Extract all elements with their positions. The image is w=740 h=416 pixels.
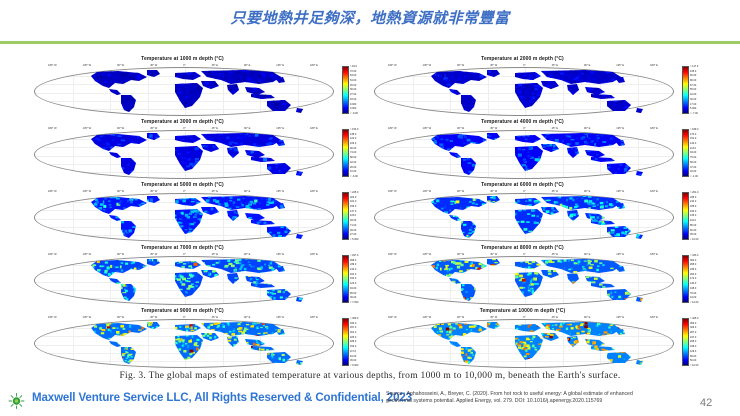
- colorbar-tick-label: 268.0: [690, 263, 712, 266]
- panel-8000m: Temperature at 8000 m depth (°C)180° W13…: [370, 244, 710, 307]
- temperature-land-layer: [35, 320, 334, 368]
- colorbar-tick-label: 140.0: [690, 282, 712, 285]
- colorbar-tick-label: 80.00: [690, 79, 712, 82]
- globe-frame: [34, 130, 334, 179]
- colorbar-tick-label: 268.0: [350, 259, 372, 262]
- colorbar-tick-label: 44.00: [690, 296, 712, 299]
- colorbar-tick-labels: > 153.0138.0122.0106.090.0074.0058.0042.…: [350, 128, 372, 178]
- colorbar-tick-labels: > 333.0300.0268.0236.0204.0172.0140.0108…: [690, 254, 712, 304]
- globe-frame: [34, 193, 334, 242]
- colorbar: [682, 66, 689, 114]
- map-panel-title: Temperature at 10000 m depth (°C): [370, 308, 675, 314]
- colorbar-tick-label: 297.0: [350, 326, 372, 329]
- colorbar-tick-label: > 405.0: [690, 317, 712, 320]
- company-logo-icon: [8, 392, 25, 410]
- colorbar-tick-labels: > 117.0105.092.0080.0067.0055.0042.0030.…: [690, 65, 712, 115]
- colorbar-tick-label: 18.00: [690, 170, 712, 173]
- colorbar-tick-label: 63.00: [350, 74, 372, 77]
- colorbar-tick-label: > 297.0: [350, 254, 372, 257]
- colorbar-tick-labels: > 261.0235.0210.0185.0160.0135.0110.085.…: [690, 191, 712, 241]
- colorbar-tick-label: 105.0: [690, 70, 712, 73]
- colorbar-tick-label: < 10.00: [690, 364, 712, 367]
- colorbar-tick-label: 81.00: [350, 355, 372, 358]
- map-panel-title: Temperature at 7000 m depth (°C): [30, 245, 335, 251]
- colorbar-tick-label: 129.0: [690, 350, 712, 353]
- colorbar-tick-label: 55.00: [690, 88, 712, 91]
- world-map-plot: [374, 67, 674, 116]
- colorbar-tick-label: 27.00: [350, 233, 372, 236]
- world-map-plot: [374, 193, 674, 242]
- colorbar-tick-label: 300.0: [690, 259, 712, 262]
- temperature-land-layer: [375, 68, 674, 116]
- colorbar-tick-labels: > 225.0203.0181.0159.0137.0115.093.0071.…: [350, 191, 372, 241]
- colorbar-tick-label: 153.0: [350, 345, 372, 348]
- colorbar-tick-label: 366.0: [690, 322, 712, 325]
- colorbar-tick-label: 287.0: [690, 331, 712, 334]
- colorbar-tick-label: < 5.000: [350, 238, 372, 241]
- slide-footer: Maxwell Venture Service LLC, All Rights …: [0, 389, 740, 416]
- colorbar-tick-label: 27.00: [350, 93, 372, 96]
- colorbar-tick-label: 185.0: [690, 205, 712, 208]
- colorbar-tick-label: 26.00: [350, 166, 372, 169]
- colorbar-tick-label: 94.00: [690, 151, 712, 154]
- colorbar: [342, 318, 349, 366]
- map-panel-title: Temperature at 9000 m depth (°C): [30, 308, 335, 314]
- colorbar-tick-label: > 333.0: [690, 254, 712, 257]
- figure-caption-line-2: the Earth's surface.: [542, 371, 620, 381]
- globe-frame: [374, 193, 674, 242]
- colorbar-tick-labels: > 297.0268.0239.0210.0181.0152.0123.094.…: [350, 254, 372, 304]
- temperature-land-layer: [375, 257, 674, 305]
- colorbar-tick-label: > 81.0: [350, 65, 372, 68]
- colorbar-tick-label: 138.0: [350, 133, 372, 136]
- colorbar-tick-label: 333.0: [350, 322, 372, 325]
- world-map-plot: [34, 256, 334, 305]
- colorbar-tick-label: 85.00: [690, 224, 712, 227]
- globe-frame: [374, 256, 674, 305]
- globe-frame: [34, 67, 334, 116]
- colorbar-tick-label: 122.0: [350, 137, 372, 140]
- colorbar-tick-label: 123.0: [350, 282, 372, 285]
- globe-frame: [34, 319, 334, 368]
- colorbar-tick-label: < 7.000: [350, 301, 372, 304]
- colorbar-tick-label: 106.0: [350, 142, 372, 145]
- temperature-land-layer: [375, 131, 674, 179]
- colorbar-tick-label: 261.0: [350, 331, 372, 334]
- colorbar-tick-label: 247.0: [690, 336, 712, 339]
- colorbar-tick-label: < -7.00: [690, 112, 712, 115]
- colorbar-tick-label: 49.00: [350, 229, 372, 232]
- panel-1000m: Temperature at 1000 m depth (°C)180° W13…: [30, 55, 370, 118]
- colorbar-tick-label: 326.0: [690, 326, 712, 329]
- colorbar-tick-label: 92.00: [690, 74, 712, 77]
- world-map-plot: [374, 256, 674, 305]
- panel-6000m: Temperature at 6000 m depth (°C)180° W13…: [370, 181, 710, 244]
- map-panel-title: Temperature at 6000 m depth (°C): [370, 182, 675, 188]
- colorbar-tick-label: 90.00: [350, 147, 372, 150]
- source-citation-line-1: Source : Aghahosseini, A., Breyer, C. (2…: [386, 391, 686, 398]
- colorbar-tick-label: 235.0: [690, 196, 712, 199]
- colorbar-tick-label: 71.00: [350, 224, 372, 227]
- colorbar-tick-label: < 9.000: [350, 364, 372, 367]
- map-panel-title: Temperature at 2000 m depth (°C): [370, 56, 675, 62]
- colorbar-tick-label: 108.0: [690, 287, 712, 290]
- panel-4000m: Temperature at 4000 m depth (°C)180° W13…: [370, 118, 710, 181]
- figure-caption: Fig. 3. The global maps of estimated tem…: [34, 371, 706, 382]
- colorbar-tick-label: 0.000: [350, 107, 372, 110]
- colorbar: [342, 192, 349, 240]
- colorbar-tick-label: 208.0: [690, 340, 712, 343]
- colorbar-tick-label: 54.00: [350, 79, 372, 82]
- temperature-land-layer: [35, 194, 334, 242]
- colorbar-tick-label: 75.00: [690, 156, 712, 159]
- world-map-plot: [34, 67, 334, 116]
- colorbar-tick-label: 72.00: [350, 70, 372, 73]
- map-row: Temperature at 5000 m depth (°C)180° W13…: [30, 181, 710, 244]
- colorbar-tick-label: 58.00: [350, 156, 372, 159]
- colorbar-tick-label: 60.00: [690, 229, 712, 232]
- globe-frame: [374, 130, 674, 179]
- panel-7000m: Temperature at 7000 m depth (°C)180° W13…: [30, 244, 370, 307]
- page-title: 只要地熱井足夠深，地熱資源就非常豐富: [0, 8, 740, 30]
- colorbar-tick-label: 168.0: [690, 345, 712, 348]
- colorbar-tick-label: < -1.00: [690, 175, 712, 178]
- colorbar-tick-label: 76.00: [690, 292, 712, 295]
- colorbar-tick-label: < -6.00: [350, 175, 372, 178]
- colorbar: [342, 255, 349, 303]
- globe-frame: [374, 319, 674, 368]
- colorbar-tick-label: 30.00: [690, 98, 712, 101]
- colorbar: [682, 129, 689, 177]
- temperature-land-layer: [35, 131, 334, 179]
- colorbar-tick-label: < 10.00: [690, 238, 712, 241]
- colorbar-tick-label: 45.00: [350, 84, 372, 87]
- colorbar-tick-label: 204.0: [690, 273, 712, 276]
- colorbar-tick-label: 65.00: [350, 292, 372, 295]
- world-map-plot: [374, 130, 674, 179]
- page-number: 42: [700, 397, 730, 409]
- panel-5000m: Temperature at 5000 m depth (°C)180° W13…: [30, 181, 370, 244]
- colorbar-tick-label: 42.00: [350, 161, 372, 164]
- colorbar-tick-label: 89.00: [690, 355, 712, 358]
- colorbar-tick-label: 210.0: [350, 268, 372, 271]
- panel-2000m: Temperature at 2000 m depth (°C)180° W13…: [370, 55, 710, 118]
- map-panel-title: Temperature at 3000 m depth (°C): [30, 119, 335, 125]
- map-row: Temperature at 1000 m depth (°C)180° W13…: [30, 55, 710, 118]
- colorbar-tick-label: 17.00: [690, 103, 712, 106]
- colorbar-tick-label: < 12.00: [690, 301, 712, 304]
- map-panel-title: Temperature at 5000 m depth (°C): [30, 182, 335, 188]
- colorbar-tick-label: 170.0: [690, 133, 712, 136]
- colorbar-tick-label: 152.0: [350, 277, 372, 280]
- colorbar-tick-label: > 261.0: [690, 191, 712, 194]
- source-citation: Source : Aghahosseini, A., Breyer, C. (2…: [386, 391, 686, 405]
- colorbar-tick-label: 159.0: [350, 205, 372, 208]
- colorbar-tick-label: 239.0: [350, 263, 372, 266]
- colorbar-tick-label: 36.00: [350, 88, 372, 91]
- map-row: Temperature at 7000 m depth (°C)180° W13…: [30, 244, 710, 307]
- figure-map-grid: Temperature at 1000 m depth (°C)180° W13…: [30, 55, 710, 370]
- world-map-plot: [374, 319, 674, 368]
- colorbar-tick-label: 35.00: [690, 233, 712, 236]
- colorbar-tick-label: > 189.0: [690, 128, 712, 131]
- colorbar-tick-label: > 369.0: [350, 317, 372, 320]
- colorbar-tick-labels: > 81.072.0063.0054.0045.0036.0027.0018.0…: [350, 65, 372, 115]
- colorbar-tick-labels: > 189.0170.0151.0132.0113.094.0075.0056.…: [690, 128, 712, 178]
- colorbar-tick-label: > 225.0: [350, 191, 372, 194]
- colorbar-tick-label: 210.0: [690, 200, 712, 203]
- map-panel-title: Temperature at 8000 m depth (°C): [370, 245, 675, 251]
- colorbar-tick-label: 10.00: [350, 170, 372, 173]
- colorbar-tick-label: 132.0: [690, 142, 712, 145]
- source-citation-line-2: geothermal systems potential. Applied En…: [386, 398, 686, 405]
- colorbar-tick-label: 160.0: [690, 210, 712, 213]
- temperature-land-layer: [375, 320, 674, 368]
- colorbar-tick-label: 203.0: [350, 196, 372, 199]
- colorbar: [342, 66, 349, 114]
- world-map-plot: [34, 319, 334, 368]
- colorbar-tick-label: > 153.0: [350, 128, 372, 131]
- colorbar-tick-label: 37.00: [690, 166, 712, 169]
- map-row: Temperature at 3000 m depth (°C)180° W13…: [30, 118, 710, 181]
- world-map-plot: [34, 193, 334, 242]
- colorbar-tick-label: 36.00: [350, 296, 372, 299]
- colorbar-tick-label: 135.0: [690, 214, 712, 217]
- figure-caption-line-1: Fig. 3. The global maps of estimated tem…: [119, 371, 539, 381]
- colorbar-tick-label: 67.00: [690, 84, 712, 87]
- colorbar: [682, 192, 689, 240]
- colorbar-tick-label: > 117.0: [690, 65, 712, 68]
- colorbar-tick-label: 172.0: [690, 277, 712, 280]
- panel-9000m: Temperature at 9000 m depth (°C)180° W13…: [30, 307, 370, 370]
- map-panel-title: Temperature at 4000 m depth (°C): [370, 119, 675, 125]
- map-panel-title: Temperature at 1000 m depth (°C): [30, 56, 335, 62]
- copyright-text: Maxwell Venture Service LLC, All Rights …: [32, 392, 412, 404]
- colorbar: [682, 318, 689, 366]
- colorbar-tick-label: 151.0: [690, 137, 712, 140]
- colorbar-tick-label: 93.00: [350, 219, 372, 222]
- colorbar-tick-labels: > 405.0366.0326.0287.0247.0208.0168.0129…: [690, 317, 712, 367]
- colorbar-tick-label: < -9.00: [350, 112, 372, 115]
- colorbar-tick-label: 189.0: [350, 340, 372, 343]
- temperature-land-layer: [35, 68, 334, 116]
- colorbar-tick-label: 94.00: [350, 287, 372, 290]
- colorbar-tick-label: 45.00: [350, 359, 372, 362]
- colorbar-tick-label: 50.00: [690, 359, 712, 362]
- colorbar-tick-label: 236.0: [690, 268, 712, 271]
- globe-frame: [374, 67, 674, 116]
- panel-3000m: Temperature at 3000 m depth (°C)180° W13…: [30, 118, 370, 181]
- colorbar-tick-label: 115.0: [350, 214, 372, 217]
- colorbar-tick-label: 18.00: [350, 98, 372, 101]
- colorbar-tick-label: 56.00: [690, 161, 712, 164]
- colorbar: [682, 255, 689, 303]
- map-row: Temperature at 9000 m depth (°C)180° W13…: [30, 307, 710, 370]
- panel-10000m: Temperature at 10000 m depth (°C)180° W1…: [370, 307, 710, 370]
- world-map-plot: [34, 130, 334, 179]
- colorbar: [342, 129, 349, 177]
- globe-frame: [34, 256, 334, 305]
- colorbar-tick-label: 5.000: [690, 107, 712, 110]
- colorbar-tick-label: 181.0: [350, 200, 372, 203]
- colorbar-tick-labels: > 369.0333.0297.0261.0225.0189.0153.0117…: [350, 317, 372, 367]
- title-divider-rule: [0, 41, 740, 44]
- colorbar-tick-label: 9.000: [350, 103, 372, 106]
- colorbar-tick-label: 137.0: [350, 210, 372, 213]
- colorbar-tick-label: 181.0: [350, 273, 372, 276]
- temperature-land-layer: [35, 257, 334, 305]
- colorbar-tick-label: 117.0: [350, 350, 372, 353]
- colorbar-tick-label: 110.0: [690, 219, 712, 222]
- colorbar-tick-label: 113.0: [690, 147, 712, 150]
- temperature-land-layer: [375, 194, 674, 242]
- colorbar-tick-label: 225.0: [350, 336, 372, 339]
- colorbar-tick-label: 42.00: [690, 93, 712, 96]
- colorbar-tick-label: 74.00: [350, 151, 372, 154]
